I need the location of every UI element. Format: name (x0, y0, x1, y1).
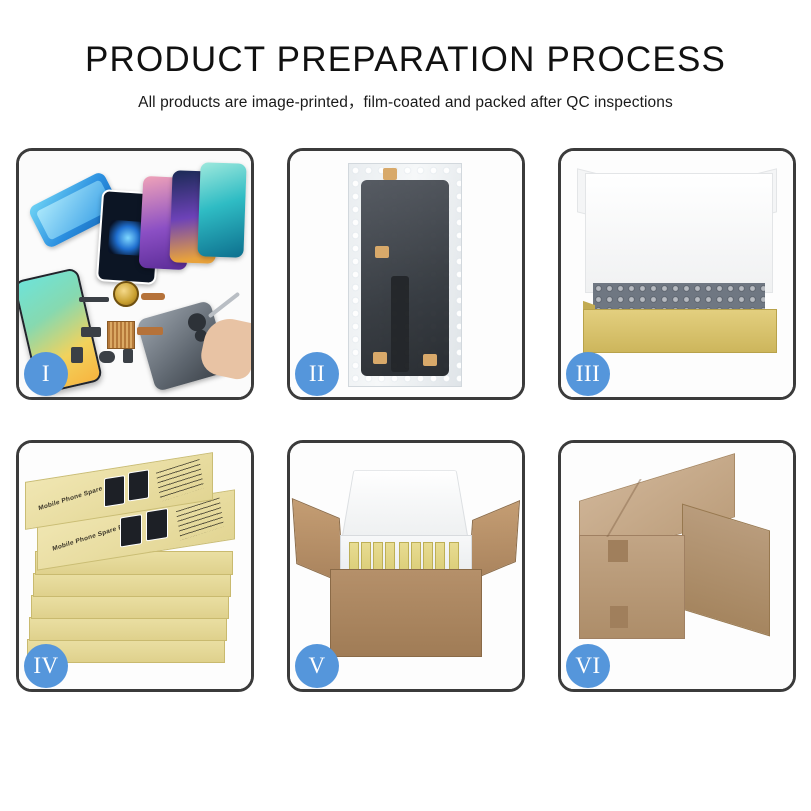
process-step-4[interactable]: Mobile Phone Spare Parts Mobile Phone Sp… (16, 440, 254, 692)
flex-ribbon-part (137, 327, 163, 335)
connector-part (79, 297, 109, 302)
step-2-badge: II (295, 352, 339, 396)
battery-connector-part (123, 349, 133, 363)
box-lcd-graphic-d (128, 469, 149, 501)
box-spec-text-block-rear (156, 459, 204, 502)
box-lcd-graphic-b (146, 508, 168, 541)
kraft-tray-base (583, 309, 777, 353)
page-header: PRODUCT PREPARATION PROCESS All products… (0, 0, 811, 112)
box-lcd-graphic-c (104, 475, 125, 507)
process-step-grid: I Mobile phone screens, LCD assemblies a… (16, 148, 795, 692)
stacked-box-3 (33, 573, 231, 597)
tape-tab-mid (375, 246, 389, 258)
white-box-lid (585, 173, 773, 293)
gold-coil-part (113, 281, 139, 307)
tape-patch-lower (610, 606, 628, 628)
process-step-5[interactable]: V Boxes loaded into foam insert inside o… (287, 440, 525, 692)
step-1-badge: I (24, 352, 68, 396)
step-5-badge: V (295, 644, 339, 688)
bubble-wrap-bag (348, 163, 462, 387)
process-step-1[interactable]: I Mobile phone screens, LCD assemblies a… (16, 148, 254, 400)
stacked-box-5 (29, 617, 227, 641)
page-subtitle: All products are image-printed，film-coat… (0, 90, 811, 112)
speaker-part (99, 351, 115, 363)
grid-chip-part (107, 321, 135, 349)
step-3-badge: III (566, 352, 610, 396)
box-lcd-graphic-a (120, 514, 142, 547)
foam-box-lid (341, 470, 468, 539)
step-6-badge: VI (566, 644, 610, 688)
carton-side-face (682, 504, 770, 637)
stacked-box-4 (31, 595, 229, 619)
small-module-part (81, 327, 101, 337)
process-step-6[interactable]: VI Sealed outer shipping carton ready fo… (558, 440, 796, 692)
tape-tab-top (383, 168, 397, 180)
tape-tab-lower-right (423, 354, 437, 366)
process-step-3[interactable]: III Bubble-wrapped parts placed into kra… (558, 148, 796, 400)
carton-front-face (579, 535, 685, 639)
process-step-2[interactable]: II Screen assembly sealed in bubble wrap… (287, 148, 525, 400)
teal-phone (197, 162, 246, 258)
flex-cable-part (141, 293, 165, 300)
step-4-badge: IV (24, 644, 68, 688)
tweezers-icon (208, 292, 240, 319)
bubble-wrapped-contents (593, 283, 765, 311)
packed-lcd-assembly (361, 180, 449, 376)
tape-tab-lower-left (373, 352, 387, 364)
camera-part (71, 347, 83, 363)
tape-patch-upper (608, 540, 628, 562)
page-title: PRODUCT PREPARATION PROCESS (0, 42, 811, 77)
outer-carton-body (330, 569, 482, 657)
